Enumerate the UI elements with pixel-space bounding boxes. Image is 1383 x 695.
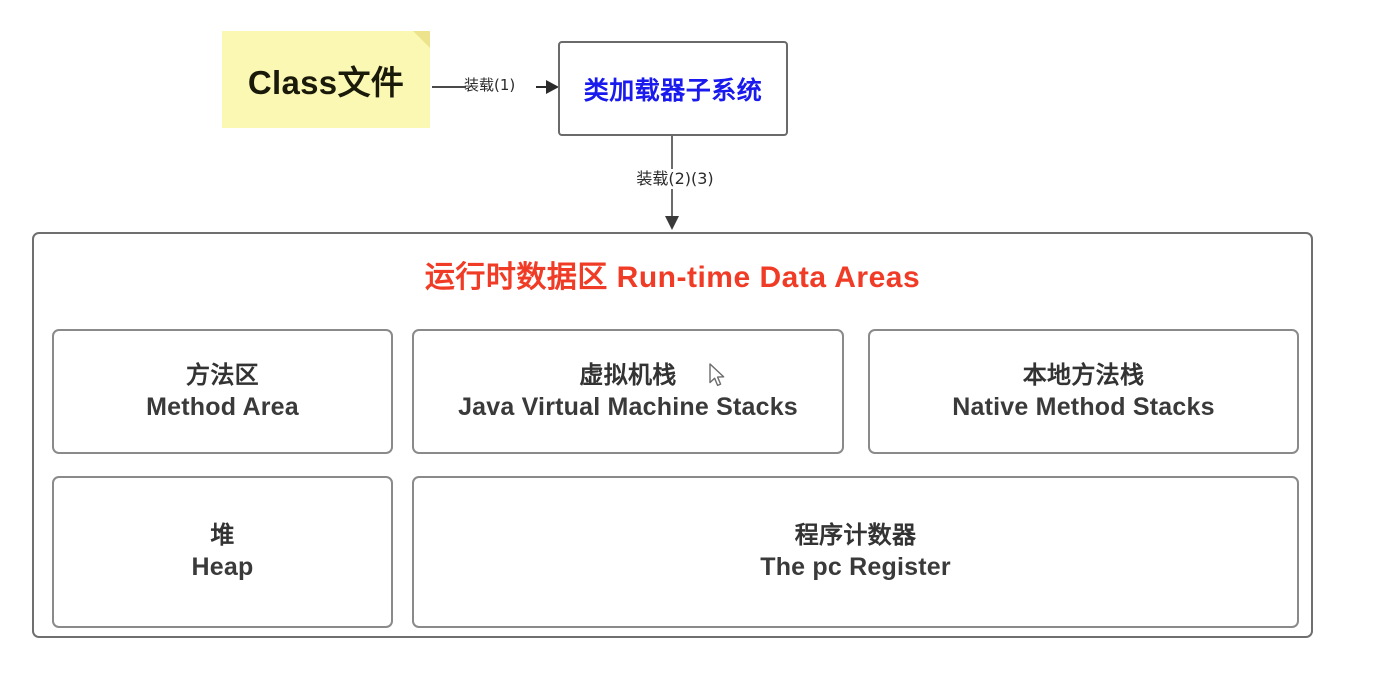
memory-box-heap-en: Heap (192, 551, 254, 583)
memory-box-heap: 堆 Heap (52, 476, 393, 628)
memory-box-native-method-stacks-en: Native Method Stacks (952, 391, 1214, 423)
memory-box-method-area: 方法区 Method Area (52, 329, 393, 454)
memory-box-method-area-cn: 方法区 (186, 361, 259, 391)
load-step-2-3-label: 装载(2)(3) (600, 169, 750, 189)
memory-box-jvm-stacks: 虚拟机栈 Java Virtual Machine Stacks (412, 329, 844, 454)
memory-box-native-method-stacks-cn: 本地方法栈 (1023, 361, 1145, 391)
classloader-subsystem-box: 类加载器子系统 (558, 41, 788, 136)
memory-box-method-area-en: Method Area (146, 391, 299, 423)
class-file-note-label: Class文件 (222, 56, 430, 104)
note-fold-corner-icon (413, 31, 430, 48)
classloader-subsystem-label: 类加载器子系统 (584, 71, 763, 107)
load-step-1-label: 装载(1) (464, 74, 515, 95)
arrow-head-down-icon (665, 216, 679, 230)
runtime-data-areas-title: 运行时数据区 Run-time Data Areas (34, 252, 1311, 296)
load-step-1-arrow: 装载(1) (432, 72, 560, 102)
class-file-note: Class文件 (222, 31, 430, 128)
memory-box-pc-register-cn: 程序计数器 (795, 521, 917, 551)
memory-box-pc-register-en: The pc Register (760, 551, 951, 583)
load-step-2-3-arrow: 装载(2)(3) (600, 136, 750, 232)
memory-box-native-method-stacks: 本地方法栈 Native Method Stacks (868, 329, 1299, 454)
runtime-data-areas-container: 运行时数据区 Run-time Data Areas 方法区 Method Ar… (32, 232, 1313, 638)
memory-box-jvm-stacks-en: Java Virtual Machine Stacks (458, 391, 798, 423)
memory-box-heap-cn: 堆 (210, 521, 234, 551)
memory-box-pc-register: 程序计数器 The pc Register (412, 476, 1299, 628)
arrow-line-left (432, 86, 466, 88)
memory-box-jvm-stacks-cn: 虚拟机栈 (579, 361, 676, 391)
